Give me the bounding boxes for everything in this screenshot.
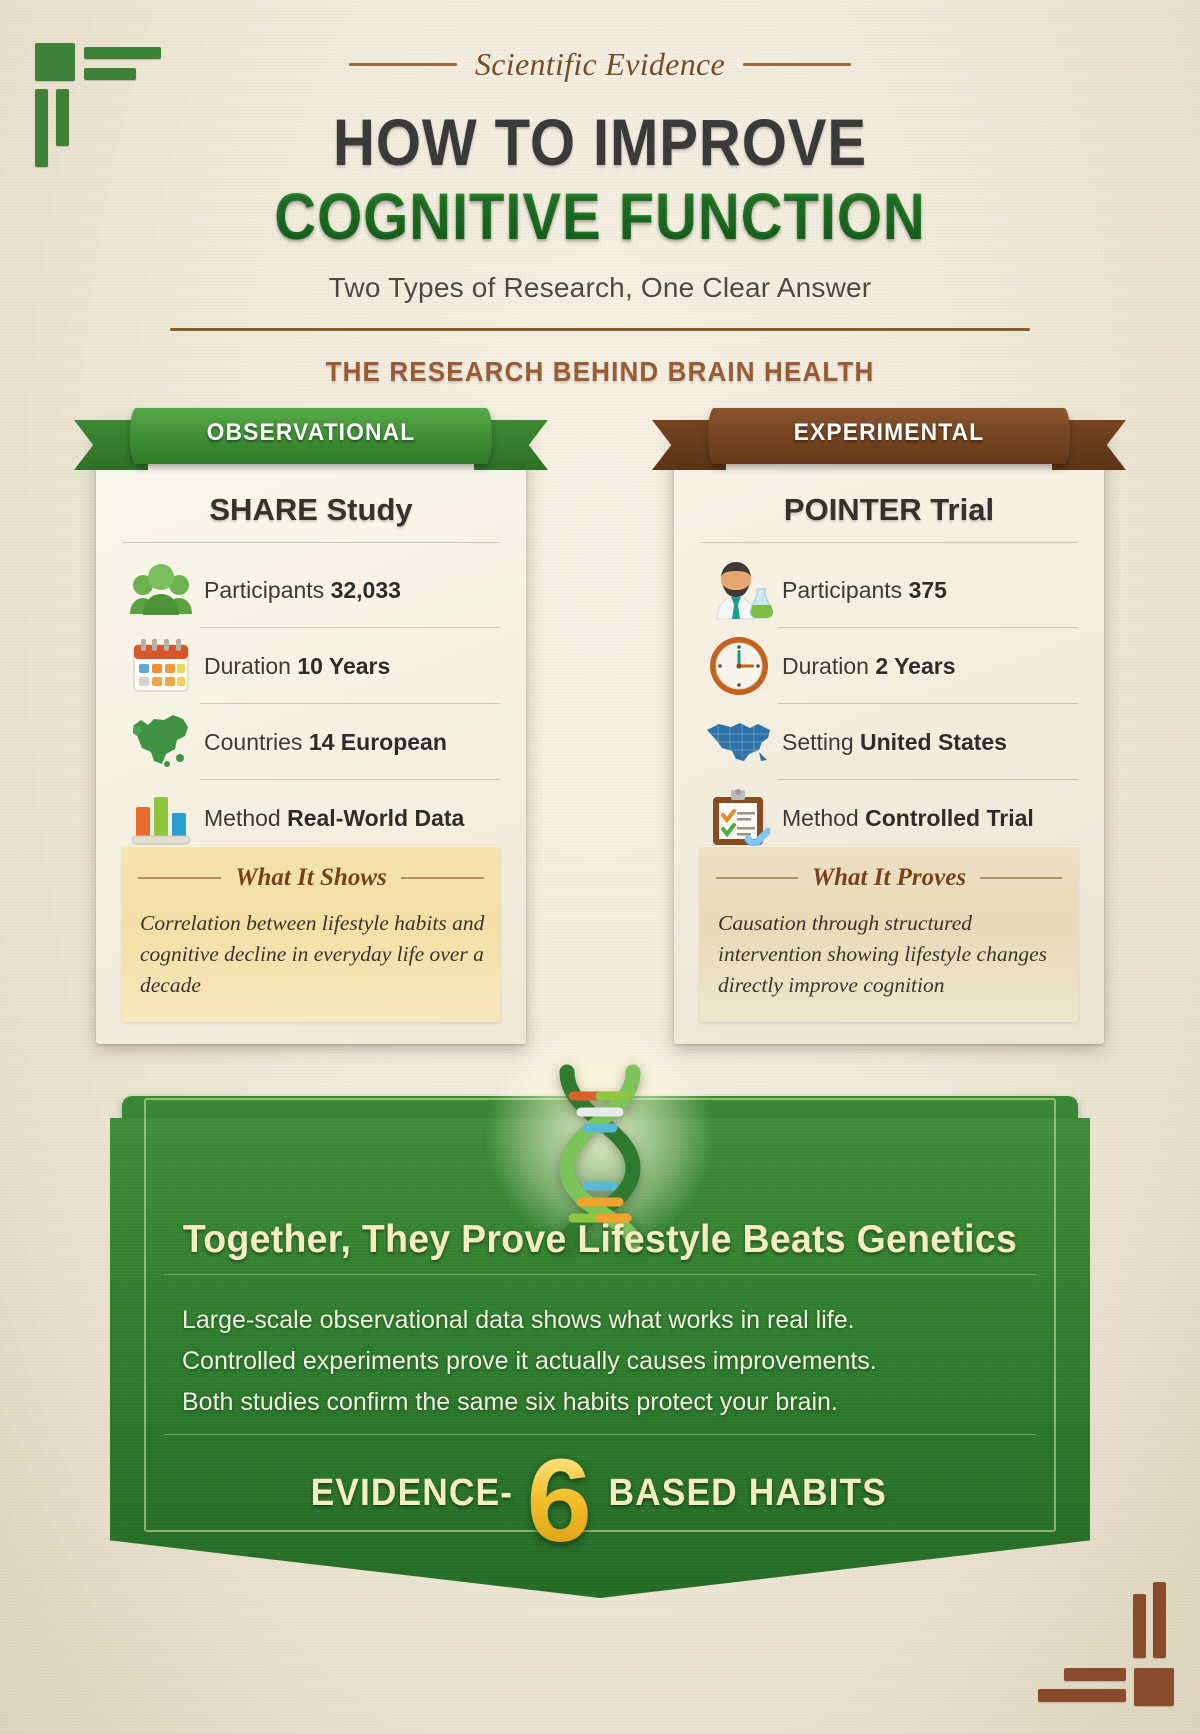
stat-value: 2 Years	[875, 653, 955, 679]
conclusion-rule-top	[164, 1274, 1036, 1275]
stat-label: Setting	[782, 729, 854, 755]
calendar-icon	[122, 633, 200, 699]
stat-text: Method Real-World Data	[200, 805, 500, 832]
eyebrow-text: Scientific Evidence	[475, 46, 725, 83]
section-heading: THE RESEARCH BEHIND BRAIN HEALTH	[42, 356, 1158, 388]
stat-row: Participants 375	[700, 552, 1078, 628]
badge-suffix: BASED HABITS	[608, 1472, 886, 1515]
stat-row: Participants 32,033	[122, 552, 500, 628]
stat-text: Duration 2 Years	[778, 653, 1078, 680]
europe-map-icon	[122, 709, 200, 775]
people-group-icon	[122, 557, 200, 623]
study-name: SHARE Study	[96, 492, 526, 528]
stat-text: Participants 32,033	[200, 577, 500, 604]
stats-list-experimental: Participants 375	[700, 552, 1078, 856]
page-subtitle: Two Types of Research, One Clear Answer	[0, 272, 1200, 304]
ribbon-experimental: EXPERIMENTAL	[648, 408, 1130, 480]
badge-prefix: EVIDENCE-	[310, 1472, 512, 1515]
stat-label: Duration	[204, 653, 291, 679]
stat-label: Method	[782, 805, 859, 831]
stat-text: Setting United States	[778, 729, 1078, 756]
stat-value: United States	[860, 729, 1007, 755]
callout-what-it-proves: What It Proves Causation through structu…	[700, 846, 1078, 1022]
bar-chart-icon	[122, 785, 200, 851]
study-card-experimental: EXPERIMENTAL POINTER Trial	[674, 424, 1104, 1044]
callout-what-it-shows: What It Shows Correlation between lifest…	[122, 846, 500, 1022]
study-name: POINTER Trial	[674, 492, 1104, 528]
conclusion-section: Together, They Prove Lifestyle Beats Gen…	[110, 1078, 1090, 1598]
stat-value: 14 European	[309, 729, 447, 755]
stat-label: Participants	[782, 577, 902, 603]
stat-row: Setting United States	[700, 704, 1078, 780]
stat-value: Real-World Data	[287, 805, 464, 831]
stat-value: 10 Years	[297, 653, 390, 679]
conclusion-line: Both studies confirm the same six habits…	[182, 1382, 1018, 1423]
eyebrow-rule-right	[743, 63, 851, 66]
header-divider	[170, 328, 1030, 331]
stat-label: Duration	[782, 653, 869, 679]
stat-row: Countries 14 European	[122, 704, 500, 780]
stats-list-observational: Participants 32,033	[122, 552, 500, 856]
study-card-observational: OBSERVATIONAL SHARE Study	[96, 424, 526, 1044]
ribbon-label: OBSERVATIONAL	[82, 419, 540, 447]
stat-text: Method Controlled Trial	[778, 805, 1078, 832]
stat-text: Duration 10 Years	[200, 653, 500, 680]
stat-label: Countries	[204, 729, 302, 755]
stat-value: Controlled Trial	[865, 805, 1034, 831]
conclusion-title: Together, They Prove Lifestyle Beats Gen…	[130, 1218, 1071, 1262]
stat-text: Participants 375	[778, 577, 1078, 604]
conclusion-line: Large-scale observational data shows wha…	[182, 1300, 1018, 1341]
stat-row: Duration 2 Years	[700, 628, 1078, 704]
scientist-icon	[700, 557, 778, 623]
clock-icon	[700, 633, 778, 699]
stat-text: Countries 14 European	[200, 729, 500, 756]
eyebrow-row: Scientific Evidence	[0, 46, 1200, 83]
callout-heading: What It Shows	[235, 864, 386, 892]
page-title-line1: HOW TO IMPROVE	[72, 104, 1128, 180]
page-title-line2: COGNITIVE FUNCTION	[72, 178, 1128, 254]
conclusion-rule-bottom	[164, 1434, 1036, 1435]
stat-row: Duration 10 Years	[122, 628, 500, 704]
stat-row: Method Real-World Data	[122, 780, 500, 856]
study-cards: OBSERVATIONAL SHARE Study	[96, 424, 1104, 1052]
usa-map-icon	[700, 709, 778, 775]
callout-body: Causation through structured interventio…	[718, 908, 1064, 1001]
stat-label: Method	[204, 805, 281, 831]
stat-row: Method Controlled Trial	[700, 780, 1078, 856]
stat-label: Participants	[204, 577, 324, 603]
ribbon-observational: OBSERVATIONAL	[70, 408, 552, 480]
eyebrow-rule-left	[349, 63, 457, 66]
ribbon-label: EXPERIMENTAL	[660, 419, 1118, 447]
card-divider	[700, 542, 1078, 543]
conclusion-line: Controlled experiments prove it actually…	[182, 1341, 1018, 1382]
evidence-based-habits-badge: EVIDENCE- 6 BASED HABITS	[110, 1450, 1090, 1536]
callout-body: Correlation between lifestyle habits and…	[140, 908, 486, 1001]
clipboard-checklist-icon	[700, 785, 778, 851]
callout-heading: What It Proves	[812, 864, 966, 892]
infographic-poster: Scientific Evidence HOW TO IMPROVE COGNI…	[0, 0, 1200, 1734]
stat-value: 32,033	[331, 577, 401, 603]
card-divider	[122, 542, 500, 543]
bottom-right-corner-decoration	[1038, 1582, 1174, 1708]
stat-value: 375	[909, 577, 947, 603]
badge-number: 6	[522, 1458, 596, 1544]
conclusion-body: Large-scale observational data shows wha…	[182, 1300, 1018, 1423]
